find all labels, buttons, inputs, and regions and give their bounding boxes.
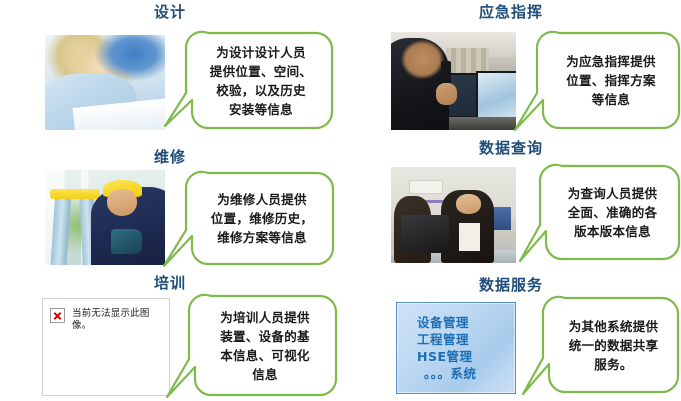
bubble-line: 位置、指挥方案 xyxy=(566,71,656,90)
bubble-line: 服务。 xyxy=(594,355,632,374)
photo-maintenance xyxy=(45,170,165,265)
photo-design xyxy=(45,35,165,130)
panel-title-design: 设计 xyxy=(0,2,340,22)
bubble-line: 信息 xyxy=(252,365,278,384)
bubble-line: 为培训人员提供 xyxy=(220,308,310,327)
bubble-line: 装置、设备的基 xyxy=(220,327,310,346)
bubble-line: 统一的数据共享 xyxy=(569,336,659,355)
photo-dataquery xyxy=(391,167,516,263)
panel-title-dataservice: 数据服务 xyxy=(341,275,681,295)
photo-maintenance-body xyxy=(45,170,165,265)
bubble-line: 为其他系统提供 xyxy=(569,317,659,336)
bubble-design: 为设计设计人员 提供位置、空间、 校验，以及历史 安装等信息 xyxy=(160,30,335,135)
bubble-line: 提供位置、空间、 xyxy=(210,62,312,81)
panel-training: 培训 当前无法显示此图像。 为培训人员提供 装置、设备的基 本信息、可视化 信息 xyxy=(0,265,340,400)
broken-image-icon xyxy=(50,308,65,323)
bubble-line: 维修方案等信息 xyxy=(217,228,307,247)
service-item-others: 。。。系统 xyxy=(417,365,515,382)
panel-design: 设计 为设计设计人员 提供位置、空间、 校验，以及历史 安装等信息 xyxy=(0,0,340,140)
bubble-line: 全面、准确的各 xyxy=(568,203,658,222)
bubble-dataservice: 为其他系统提供 统一的数据共享 服务。 xyxy=(519,295,681,398)
bubble-line: 位置，维修历史， xyxy=(211,209,313,228)
broken-image-message: 当前无法显示此图像。 xyxy=(72,308,162,332)
service-item-hse: HSE管理 xyxy=(417,348,515,365)
panel-title-maintenance: 维修 xyxy=(0,147,340,167)
bubble-line: 为查询人员提供 xyxy=(568,184,658,203)
panel-title-dataquery: 数据查询 xyxy=(341,138,681,158)
bubble-training-text: 为培训人员提供 装置、设备的基 本信息、可视化 信息 xyxy=(195,297,335,394)
bubble-maintenance: 为维修人员提供 位置，维修历史， 维修方案等信息 xyxy=(160,170,335,270)
bubble-design-text: 为设计设计人员 提供位置、空间、 校验，以及历史 安装等信息 xyxy=(192,34,330,127)
bubble-line: 等信息 xyxy=(592,90,630,109)
bubble-line: 版本版本信息 xyxy=(574,222,651,241)
bubble-line: 校验，以及历史 xyxy=(216,81,306,100)
photo-emergency-body xyxy=(391,32,516,130)
bubble-emergency-text: 为应急指挥提供 位置、指挥方案 等信息 xyxy=(543,34,679,127)
bubble-line: 本信息、可视化 xyxy=(220,346,310,365)
bubble-emergency: 为应急指挥提供 位置、指挥方案 等信息 xyxy=(511,30,681,135)
panel-title-training: 培训 xyxy=(0,273,340,293)
bubble-line: 为维修人员提供 xyxy=(217,190,307,209)
bubble-line: 为设计设计人员 xyxy=(216,43,306,62)
panel-maintenance: 维修 为维修人员提供 位置，维修历史， 维修方案等信息 xyxy=(0,140,340,270)
bubble-maintenance-text: 为维修人员提供 位置，维修历史， 维修方案等信息 xyxy=(192,174,332,263)
photo-dataquery-body xyxy=(391,167,516,263)
bubble-line: 安装等信息 xyxy=(229,100,293,119)
bubble-training: 为培训人员提供 装置、设备的基 本信息、可视化 信息 xyxy=(163,293,338,401)
broken-image-placeholder-training: 当前无法显示此图像。 xyxy=(42,298,170,396)
panel-emergency: 应急指挥 为应急指挥提供 位置、指挥方案 等信息 xyxy=(341,0,681,140)
photo-emergency xyxy=(391,32,516,130)
service-item-equipment: 设备管理 xyxy=(417,314,515,331)
bubble-dataquery: 为查询人员提供 全面、准确的各 版本版本信息 xyxy=(516,163,681,265)
bubble-dataquery-text: 为查询人员提供 全面、准确的各 版本版本信息 xyxy=(546,167,679,258)
panel-dataquery: 数据查询 为查询人员提供 全面、准确的各 版本版本信息 xyxy=(341,133,681,270)
bubble-dataservice-text: 为其他系统提供 统一的数据共享 服务。 xyxy=(549,299,678,391)
panel-dataservice: 数据服务 设备管理 工程管理 HSE管理 。。。系统 为其他系统提供 统一的数据… xyxy=(341,265,681,400)
broken-image-inner: 当前无法显示此图像。 xyxy=(43,299,169,341)
data-service-box: 设备管理 工程管理 HSE管理 。。。系统 xyxy=(396,302,516,394)
photo-design-body xyxy=(45,35,165,130)
bubble-line: 为应急指挥提供 xyxy=(566,52,656,71)
panel-title-emergency: 应急指挥 xyxy=(341,2,681,22)
service-item-engineering: 工程管理 xyxy=(417,331,515,348)
